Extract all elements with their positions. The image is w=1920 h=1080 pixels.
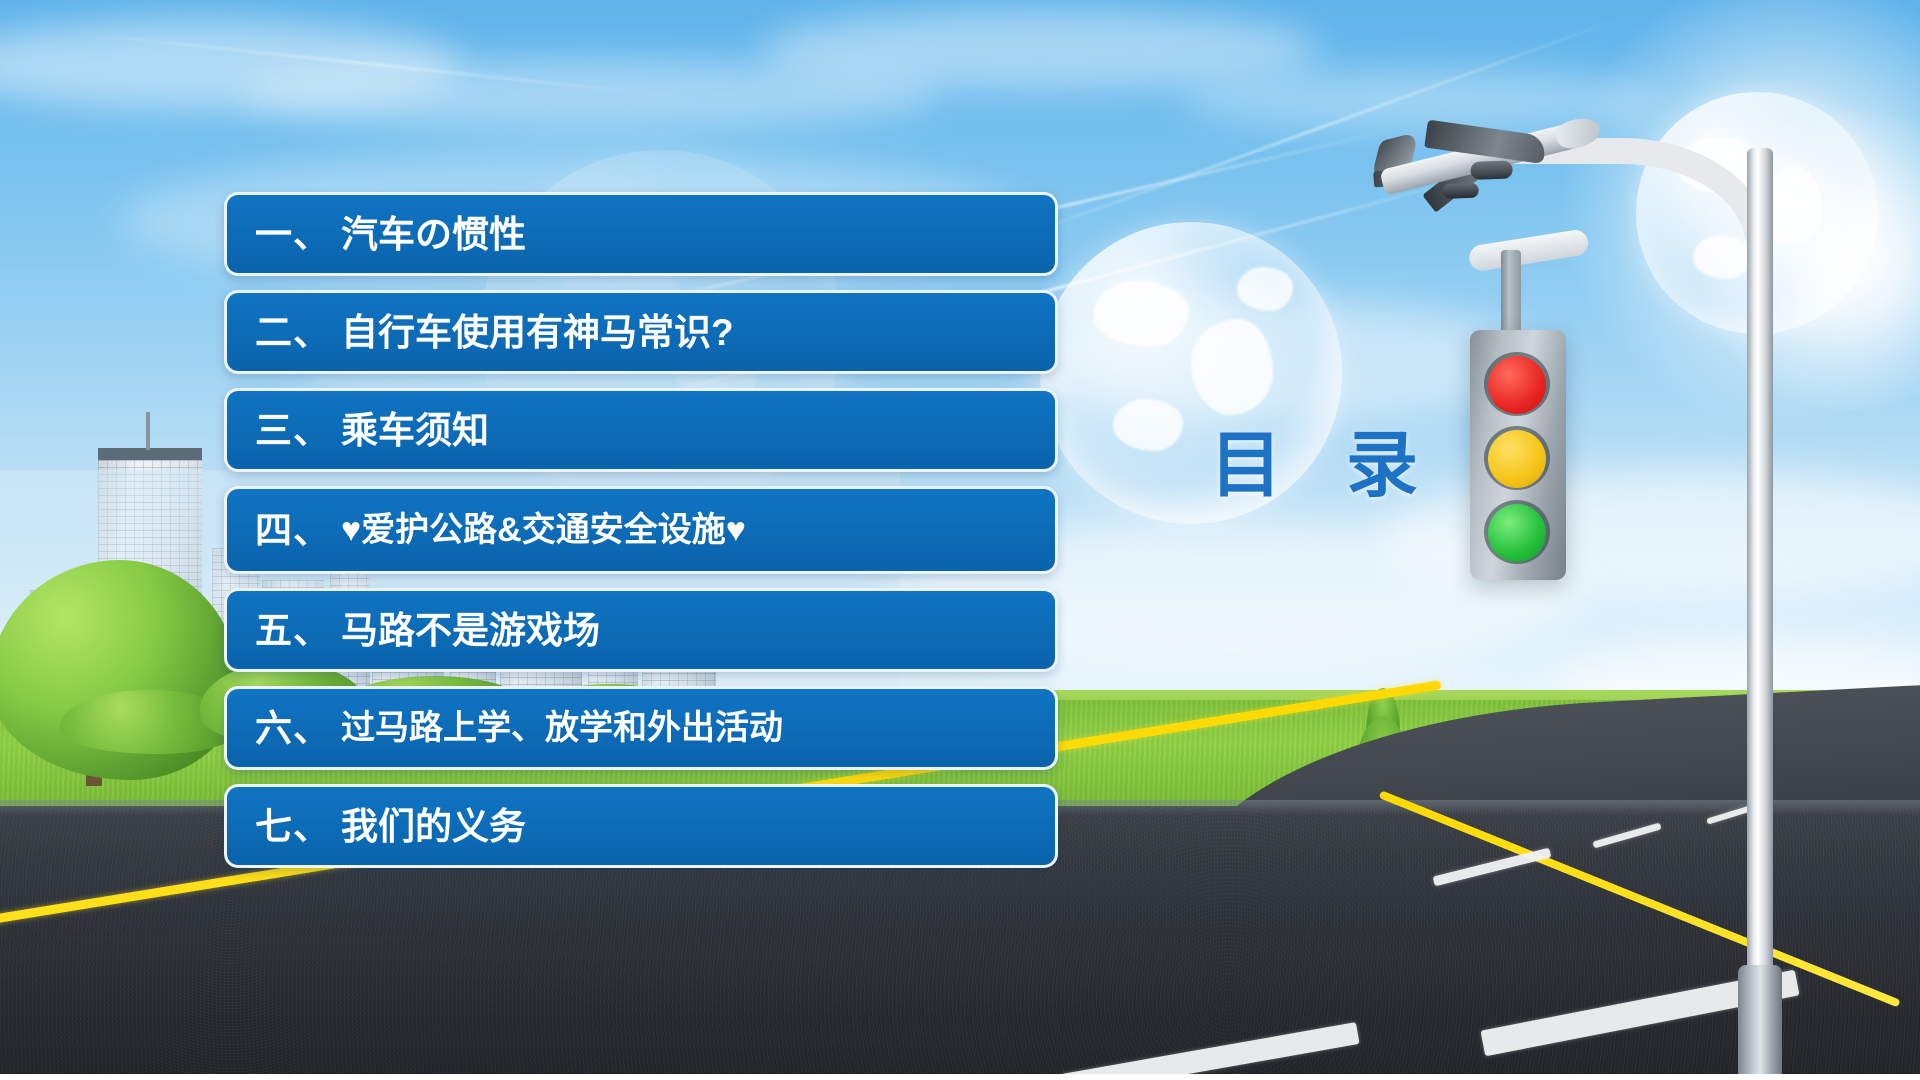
street-pole (1747, 148, 1773, 1028)
list-item[interactable]: 七、 我们的义务 (224, 784, 1058, 868)
list-item-label: 自行车使用有神马常识? (331, 314, 734, 351)
list-item-label: 过马路上学、放学和外出活动 (331, 711, 783, 745)
cloud (760, 10, 1320, 90)
list-item-label: ♥爱护公路&交通安全设施♥ (331, 513, 746, 547)
list-item-number: 五、 (227, 612, 331, 649)
list-item-number: 一、 (227, 216, 331, 253)
list-item-label: 乘车须知 (331, 412, 489, 449)
slide-root: 目 录 一、 汽车の惯性 二、 自行车使用有神马常识? 三、 乘车须知 四、 ♥… (0, 0, 1920, 1080)
list-item-number: 四、 (227, 512, 331, 549)
list-item-number: 六、 (227, 710, 331, 747)
list-item-label: 我们的义务 (331, 808, 526, 845)
traffic-light-green-lamp (1488, 504, 1546, 562)
list-item[interactable]: 四、 ♥爱护公路&交通安全设施♥ (224, 486, 1058, 574)
page-title: 目 录 (1210, 430, 1440, 502)
list-item-label: 马路不是游戏场 (331, 612, 600, 649)
slide-bottom-edge (0, 1074, 1920, 1080)
list-item-number: 三、 (227, 412, 331, 449)
list-item-number: 二、 (227, 314, 331, 351)
list-item-label: 汽车の惯性 (331, 216, 526, 253)
traffic-light-yellow-lamp (1488, 430, 1546, 488)
traffic-light-icon (1470, 330, 1566, 580)
list-item[interactable]: 六、 过马路上学、放学和外出活动 (224, 686, 1058, 770)
list-item[interactable]: 二、 自行车使用有神马常识? (224, 290, 1058, 374)
table-of-contents-list: 一、 汽车の惯性 二、 自行车使用有神马常识? 三、 乘车须知 四、 ♥爱护公路… (224, 192, 1058, 882)
list-item[interactable]: 三、 乘车须知 (224, 388, 1058, 472)
street-pole-base (1738, 965, 1782, 1080)
list-item-number: 七、 (227, 808, 331, 845)
traffic-light-red-lamp (1488, 356, 1546, 414)
list-item[interactable]: 五、 马路不是游戏场 (224, 588, 1058, 672)
list-item[interactable]: 一、 汽车の惯性 (224, 192, 1058, 276)
